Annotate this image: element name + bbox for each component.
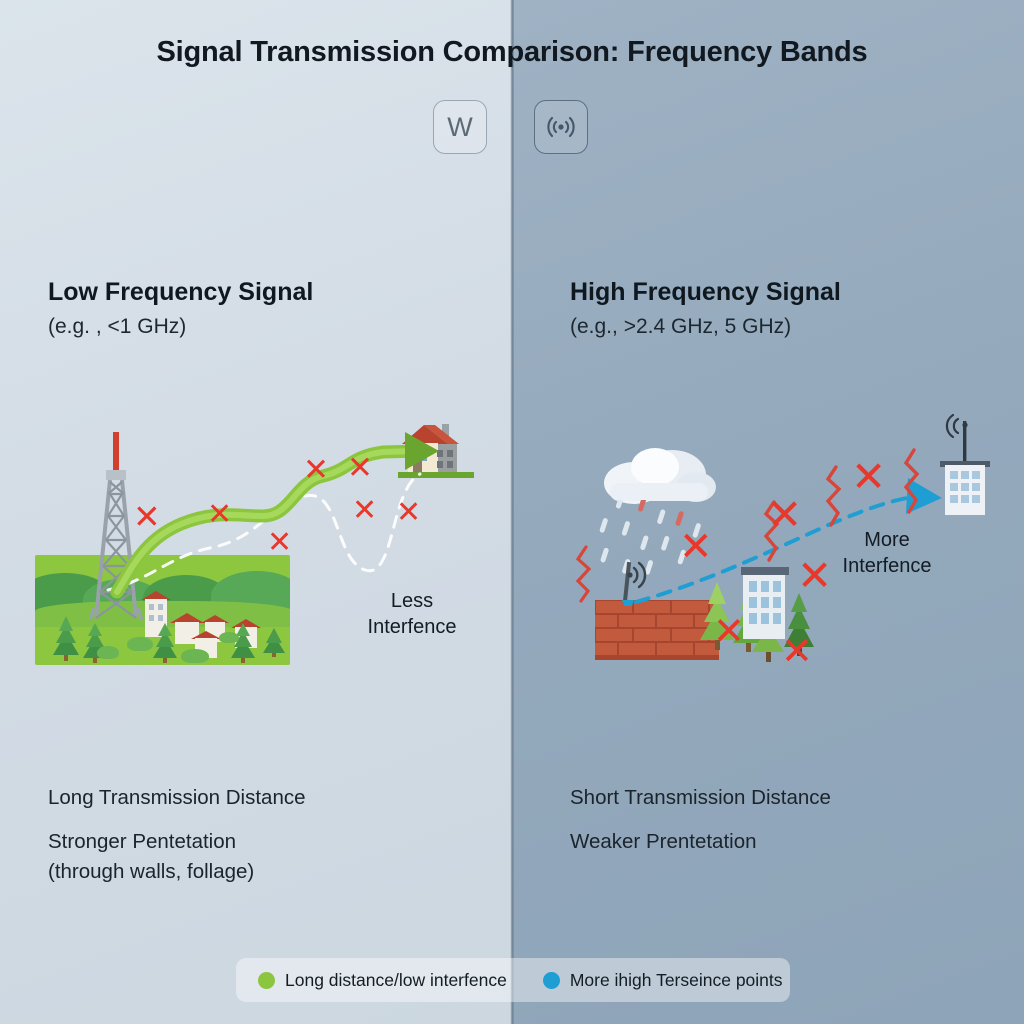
page-title: Signal Transmission Comparison: Frequenc… bbox=[0, 36, 1024, 69]
red-zigzag-icon bbox=[822, 465, 848, 527]
red-x-icon: ✕ bbox=[267, 528, 292, 558]
blue-dot-icon bbox=[543, 972, 560, 989]
red-x-icon: ✕ bbox=[851, 456, 886, 498]
wireless-signal-icon bbox=[544, 112, 578, 142]
red-x-icon: ✕ bbox=[767, 494, 802, 536]
infographic-canvas: Signal Transmission Comparison: Frequenc… bbox=[0, 0, 1024, 1024]
low-frequency-subheading: (e.g. , <1 GHz) bbox=[48, 315, 186, 339]
more-interference-line2: Interfence bbox=[812, 553, 962, 579]
w-badge[interactable]: W bbox=[433, 100, 487, 154]
red-x-icon: ✕ bbox=[781, 632, 813, 670]
red-x-icon: ✕ bbox=[679, 527, 713, 567]
low-feature-1: Long Transmission Distance bbox=[48, 783, 306, 813]
red-x-icon: ✕ bbox=[352, 496, 377, 526]
red-zigzag-icon bbox=[573, 545, 597, 603]
red-x-icon: ✕ bbox=[347, 453, 373, 484]
more-interference-line1: More bbox=[812, 527, 962, 553]
w-icon: W bbox=[447, 114, 472, 141]
red-x-icon: ✕ bbox=[133, 500, 161, 533]
pine-tree-icon bbox=[53, 613, 79, 661]
legend-label-blue: More ihigh Terseince points bbox=[570, 970, 783, 991]
bush-icon bbox=[181, 649, 209, 663]
red-x-icon: ✕ bbox=[713, 612, 745, 650]
legend-label-green: Long distance/low interfence bbox=[285, 970, 507, 991]
low-feature-2: Stronger Pentetation (through walls, fol… bbox=[48, 827, 254, 887]
red-x-icon: ✕ bbox=[396, 498, 421, 528]
red-x-icon: ✕ bbox=[303, 455, 329, 486]
red-x-icon: ✕ bbox=[207, 500, 232, 530]
green-dot-icon bbox=[258, 972, 275, 989]
high-frequency-heading: High Frequency Signal bbox=[570, 278, 841, 307]
less-interference-line1: Less bbox=[352, 588, 472, 614]
low-frequency-heading: Low Frequency Signal bbox=[48, 278, 313, 307]
legend-item-green[interactable]: Long distance/low interfence bbox=[258, 970, 507, 991]
high-feature-1: Short Transmission Distance bbox=[570, 783, 831, 813]
high-feature-2: Weaker Prentetation bbox=[570, 827, 757, 857]
low-feature-2-line1: Stronger Pentetation bbox=[48, 827, 254, 857]
more-interference-label: More Interfence bbox=[812, 527, 962, 579]
legend-item-blue[interactable]: More ihigh Terseince points bbox=[543, 970, 783, 991]
less-interference-line2: Interfence bbox=[352, 614, 472, 640]
high-frequency-subheading: (e.g., >2.4 GHz, 5 GHz) bbox=[570, 315, 791, 339]
legend: Long distance/low interfence More ihigh … bbox=[236, 958, 790, 1002]
red-zigzag-icon bbox=[900, 448, 926, 514]
less-interference-label: Less Interfence bbox=[352, 588, 472, 640]
low-feature-2-line2: (through walls, follage) bbox=[48, 857, 254, 887]
panel-divider bbox=[510, 0, 514, 1024]
bush-icon bbox=[97, 646, 119, 659]
wifi-badge[interactable] bbox=[534, 100, 588, 154]
